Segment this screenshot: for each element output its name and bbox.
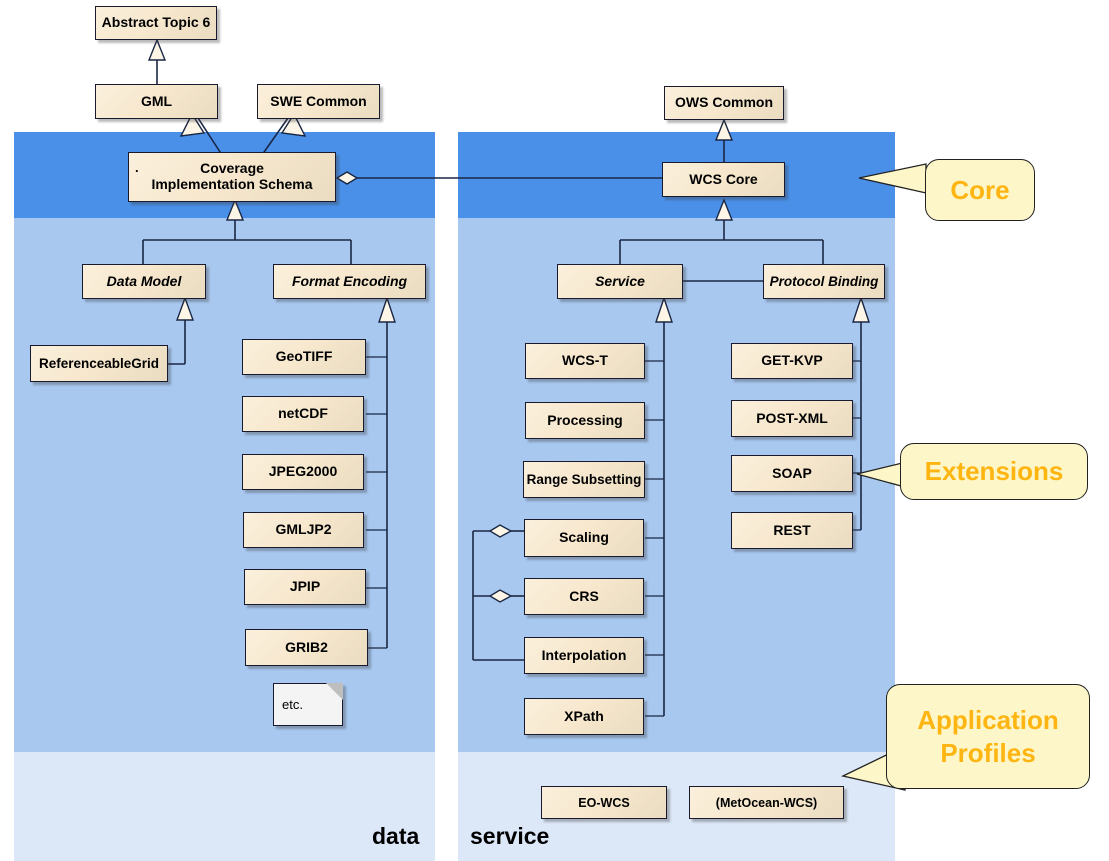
folded-corner-icon: [326, 683, 343, 700]
box-label: JPIP: [290, 579, 320, 595]
box-referenceable-grid[interactable]: ReferenceableGrid: [30, 345, 168, 382]
box-label: Service: [595, 274, 645, 290]
box-coverage-implementation-schema[interactable]: . Coverage Implementation Schema: [128, 152, 336, 202]
box-label: Range Subsetting: [527, 472, 642, 487]
box-ows-common[interactable]: OWS Common: [664, 86, 784, 120]
box-label: POST-XML: [756, 411, 828, 427]
caption-service-label: service: [470, 823, 549, 849]
box-label: Format Encoding: [292, 274, 407, 290]
box-gml[interactable]: GML: [95, 84, 218, 119]
box-grib2[interactable]: GRIB2: [245, 629, 368, 666]
callout-label: Extensions: [925, 456, 1064, 487]
box-label: OWS Common: [675, 95, 773, 111]
box-scaling[interactable]: Scaling: [524, 519, 644, 557]
box-interpolation[interactable]: Interpolation: [524, 637, 644, 674]
note-label: etc.: [282, 697, 303, 712]
box-jpip[interactable]: JPIP: [244, 569, 366, 605]
box-gmljp2[interactable]: GMLJP2: [243, 512, 364, 548]
box-processing[interactable]: Processing: [525, 402, 645, 439]
diagram-canvas: .ln { stroke:#1a2744; stroke-width:1.6; …: [0, 0, 1109, 861]
box-label: Scaling: [559, 530, 609, 546]
box-label: (MetOcean-WCS): [716, 796, 817, 810]
box-wcs-t[interactable]: WCS-T: [525, 343, 645, 379]
box-range-subsetting[interactable]: Range Subsetting: [523, 461, 645, 498]
box-label: GML: [141, 94, 172, 110]
box-label-line1: Coverage: [200, 161, 264, 177]
box-eo-wcs[interactable]: EO-WCS: [541, 786, 667, 819]
box-label: WCS-T: [562, 353, 608, 369]
box-netcdf[interactable]: netCDF: [242, 396, 364, 432]
box-label: netCDF: [278, 406, 328, 422]
callout-label-line2: Profiles: [940, 737, 1035, 770]
box-geotiff[interactable]: GeoTIFF: [242, 339, 366, 375]
box-label: Data Model: [107, 274, 182, 290]
box-protocol-binding[interactable]: Protocol Binding: [763, 264, 885, 299]
box-label: SWE Common: [270, 94, 366, 110]
callout-label-line1: Application: [917, 704, 1059, 737]
box-label: Processing: [547, 413, 622, 429]
box-label: SOAP: [772, 466, 812, 482]
box-label: GET-KVP: [761, 353, 822, 369]
box-label: Interpolation: [542, 648, 627, 664]
box-xpath[interactable]: XPath: [524, 698, 644, 735]
box-label: JPEG2000: [269, 464, 338, 480]
box-label: Protocol Binding: [770, 274, 879, 289]
box-label: GRIB2: [285, 640, 328, 656]
box-label: ReferenceableGrid: [39, 356, 159, 371]
box-label: EO-WCS: [578, 796, 629, 810]
caption-service: service: [470, 823, 549, 850]
box-post-xml[interactable]: POST-XML: [731, 400, 853, 437]
box-label: XPath: [564, 709, 604, 725]
note-etc[interactable]: etc.: [273, 683, 343, 726]
box-label: GMLJP2: [275, 522, 331, 538]
box-service[interactable]: Service: [557, 264, 683, 299]
box-label: WCS Core: [689, 172, 757, 188]
callout-core: Core: [925, 159, 1035, 221]
box-label: GeoTIFF: [276, 349, 333, 365]
box-wcs-core[interactable]: WCS Core: [662, 162, 785, 197]
box-label: Abstract Topic 6: [102, 15, 211, 31]
box-rest[interactable]: REST: [731, 512, 853, 549]
box-label: CRS: [569, 589, 599, 605]
callout-application-profiles: Application Profiles: [886, 684, 1090, 789]
callout-extensions: Extensions: [900, 443, 1088, 500]
box-label-line2: Implementation Schema: [151, 177, 312, 193]
caption-data: data: [372, 823, 419, 850]
box-abstract-topic-6[interactable]: Abstract Topic 6: [95, 6, 217, 40]
box-crs[interactable]: CRS: [524, 578, 644, 615]
lead-dot: .: [135, 161, 139, 176]
callout-label: Core: [950, 175, 1009, 206]
box-get-kvp[interactable]: GET-KVP: [731, 343, 853, 379]
box-data-model[interactable]: Data Model: [82, 264, 206, 299]
box-swe-common[interactable]: SWE Common: [257, 84, 380, 119]
box-label: REST: [773, 523, 810, 539]
box-jpeg2000[interactable]: JPEG2000: [242, 454, 364, 490]
box-soap[interactable]: SOAP: [731, 455, 853, 492]
caption-data-label: data: [372, 823, 419, 849]
box-format-encoding[interactable]: Format Encoding: [273, 264, 426, 299]
box-metocean-wcs[interactable]: (MetOcean-WCS): [689, 786, 844, 819]
